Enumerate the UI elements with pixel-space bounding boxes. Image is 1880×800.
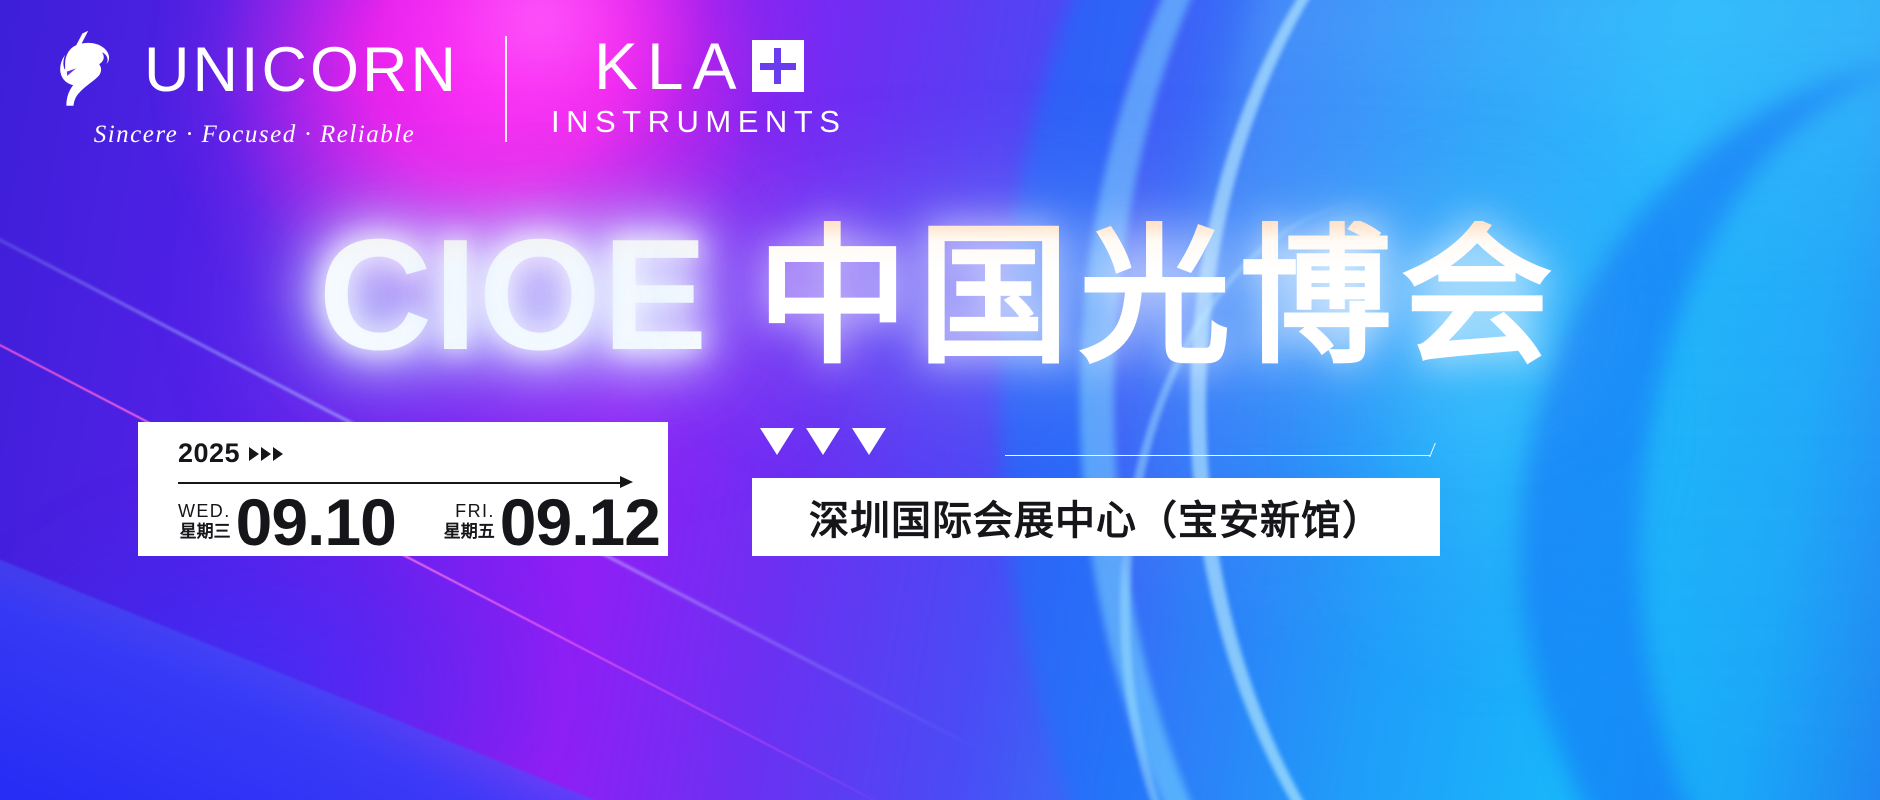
unicorn-head-icon xyxy=(50,28,134,112)
triangle-down-icon xyxy=(760,428,794,455)
unicorn-logo-row: UNICORN xyxy=(50,28,459,112)
triangle-down-icon xyxy=(806,428,840,455)
unicorn-logo: UNICORN Sincere · Focused · Reliable xyxy=(50,28,459,149)
date-divider-line xyxy=(178,482,628,484)
chevron-right-icon xyxy=(273,447,283,461)
date-item-end: FRI. 星期五 09.12 xyxy=(444,492,660,553)
weekday-cn: 星期三 xyxy=(180,522,231,543)
date-number: 09.10 xyxy=(236,492,396,553)
weekday-en: WED. xyxy=(178,500,231,523)
date-number: 09.12 xyxy=(500,492,660,553)
date-item-start: WED. 星期三 09.10 xyxy=(178,492,396,553)
event-title: CIOE 中国光博会 xyxy=(0,216,1880,374)
event-title-chinese: 中国光博会 xyxy=(757,221,1562,373)
kla-wordmark: KLA xyxy=(594,37,746,96)
event-title-latin: CIOE xyxy=(318,216,708,374)
unicorn-wordmark: UNICORN xyxy=(144,39,459,102)
plus-square-icon xyxy=(752,40,804,92)
date-card: 2025 WED. 星期三 09.10 FRI. 星期五 xyxy=(138,422,668,556)
weekday-en: FRI. xyxy=(455,500,495,523)
banner-root: UNICORN Sincere · Focused · Reliable KLA… xyxy=(0,0,1880,800)
kla-logo-row: KLA xyxy=(594,37,804,96)
date-year-row: 2025 xyxy=(178,438,283,469)
unicorn-tagline: Sincere · Focused · Reliable xyxy=(94,121,416,149)
venue-divider-line xyxy=(1005,455,1430,456)
weekday-block: FRI. 星期五 xyxy=(444,500,495,553)
weekday-block: WED. 星期三 xyxy=(178,500,231,553)
event-title-inner: CIOE 中国光博会 xyxy=(318,216,1561,374)
date-year: 2025 xyxy=(178,438,240,469)
triangle-group xyxy=(760,428,898,455)
triangle-down-icon xyxy=(852,428,886,455)
venue-name: 深圳国际会展中心（宝安新馆） xyxy=(809,488,1383,546)
kla-subtitle: INSTRUMENTS xyxy=(551,104,846,140)
chevron-right-icon xyxy=(249,447,259,461)
vertical-divider xyxy=(505,36,507,142)
venue-card: 深圳国际会展中心（宝安新馆） xyxy=(752,478,1440,556)
chevron-group xyxy=(247,447,283,461)
weekday-cn: 星期五 xyxy=(444,522,495,543)
date-list: WED. 星期三 09.10 FRI. 星期五 09.12 xyxy=(178,492,660,553)
kla-logo: KLA INSTRUMENTS xyxy=(551,37,846,140)
chevron-right-icon xyxy=(261,447,271,461)
logo-lockup: UNICORN Sincere · Focused · Reliable KLA… xyxy=(50,28,846,149)
